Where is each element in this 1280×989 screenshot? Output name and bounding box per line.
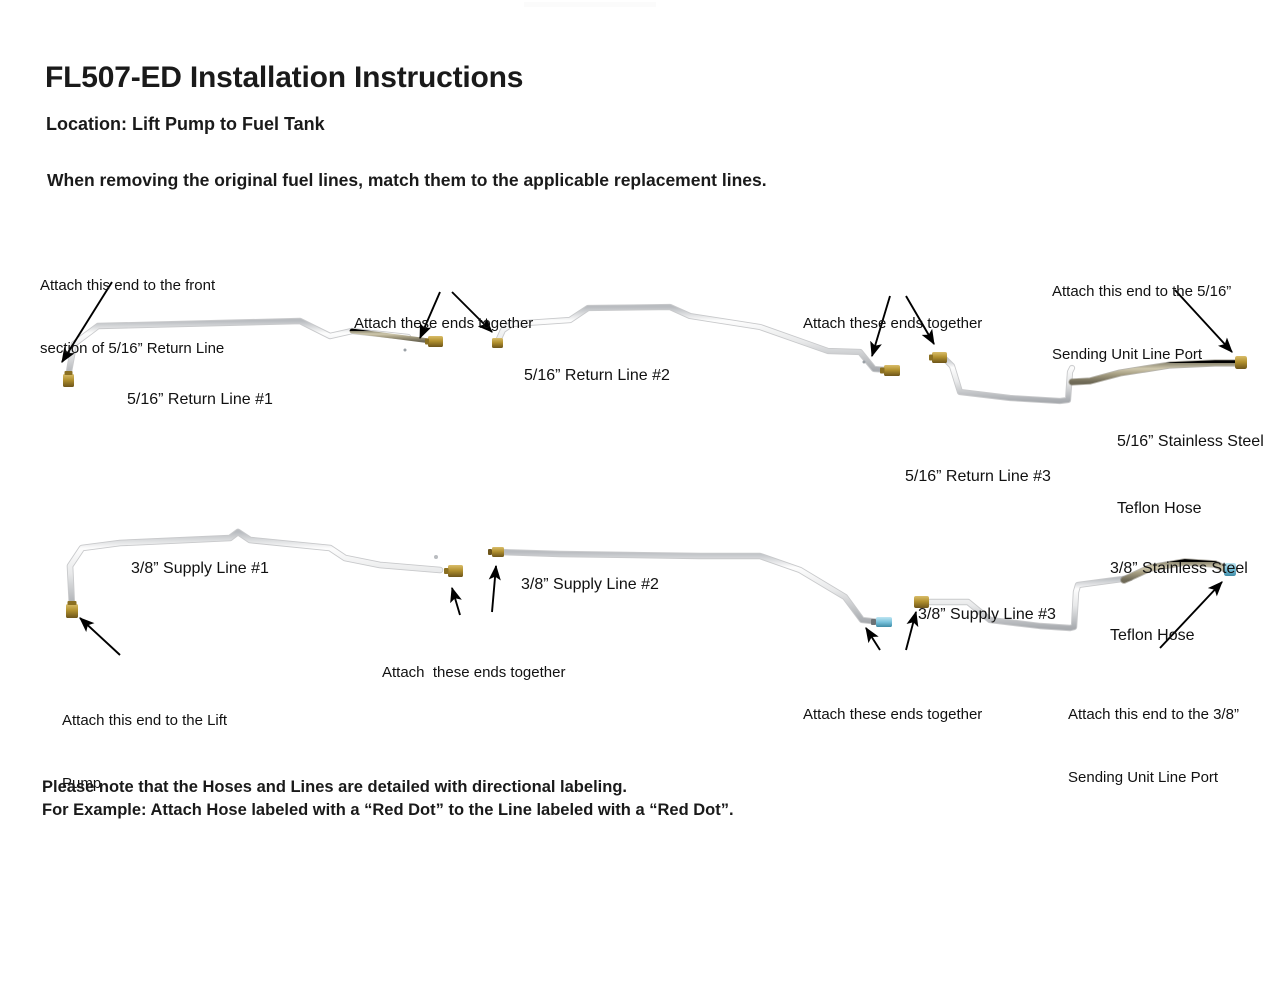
page-title: FL507-ED Installation Instructions: [45, 61, 523, 95]
part-label-line-1: 5/16” Return Line #1: [127, 389, 273, 411]
callout-line-1: Attach this end to the front: [40, 275, 224, 296]
supply-line-2-left-fitting: [488, 547, 504, 557]
label-supply-line-3: 3/8” Supply Line #3: [918, 559, 1056, 671]
part-label-line-2: Teflon Hose: [1110, 625, 1248, 647]
label-supply-teflon-hose: 3/8” Stainless Steel Teflon Hose: [1110, 513, 1248, 692]
callout-line-1: Attach this end to the Lift: [62, 710, 227, 731]
label-return-line-2: 5/16” Return Line #2: [524, 320, 670, 432]
label-supply-line-1: 3/8” Supply Line #1: [131, 513, 269, 625]
supply-line-2-right-fitting: [871, 617, 892, 627]
part-label-line-1: 5/16” Stainless Steel: [1117, 431, 1264, 453]
footnote-line-2: For Example: Attach Hose labeled with a …: [42, 801, 734, 820]
part-label-line-1: 3/8” Supply Line #1: [131, 558, 269, 580]
arrow-supply-attach-1a: [452, 588, 460, 615]
footnote-line-1: Please note that the Hoses and Lines are…: [42, 778, 627, 797]
callout-supply-attach-ends-2: Attach these ends together: [803, 661, 982, 767]
callout-line-1: Attach these ends together: [354, 313, 533, 334]
label-return-line-1: 5/16” Return Line #1: [127, 344, 273, 456]
callout-line-1: Attach this end to the 5/16”: [1052, 281, 1231, 302]
supply-line-1-left-fitting: [66, 601, 78, 618]
callout-line-1: Attach this end to the 3/8”: [1068, 704, 1239, 725]
instruction-text: When removing the original fuel lines, m…: [47, 170, 767, 191]
location-subtitle: Location: Lift Pump to Fuel Tank: [46, 114, 325, 135]
supply-line-1-right-fitting: [444, 565, 463, 577]
arrow-supply-attach-2b: [906, 612, 916, 650]
arrow-supply-lift-pump: [80, 618, 120, 655]
label-supply-line-2: 3/8” Supply Line #2: [521, 529, 659, 641]
part-label-line-1: 3/8” Stainless Steel: [1110, 558, 1248, 580]
part-label-line-1: 5/16” Return Line #2: [524, 365, 670, 387]
part-label-line-1: 5/16” Return Line #3: [905, 466, 1051, 488]
return-teflon-hose-right-fitting: [1235, 356, 1247, 369]
arrow-supply-attach-1b: [492, 566, 496, 612]
arrow-supply-attach-2a: [866, 628, 880, 650]
callout-return-attach-ends-2: Attach these ends together: [803, 270, 982, 376]
callout-line-1: Attach these ends together: [803, 313, 982, 334]
callout-line-2: Sending Unit Line Port: [1068, 767, 1239, 788]
fuel-line-diagram: [0, 0, 1280, 989]
part-label-line-1: 3/8” Supply Line #2: [521, 574, 659, 596]
callout-line-2: Sending Unit Line Port: [1052, 344, 1231, 365]
callout-line-1: Attach these ends together: [382, 662, 565, 683]
callout-return-attach-ends-1: Attach these ends together: [354, 270, 533, 376]
instruction-sheet-page: FL507-ED Installation Instructions Locat…: [0, 0, 1280, 989]
top-edge-band: [524, 2, 656, 7]
label-return-line-3: 5/16” Return Line #3: [905, 421, 1051, 533]
callout-line-1: Attach these ends together: [803, 704, 982, 725]
part-label-line-1: 3/8” Supply Line #3: [918, 604, 1056, 626]
callout-return-sending-unit: Attach this end to the 5/16” Sending Uni…: [1052, 238, 1231, 408]
